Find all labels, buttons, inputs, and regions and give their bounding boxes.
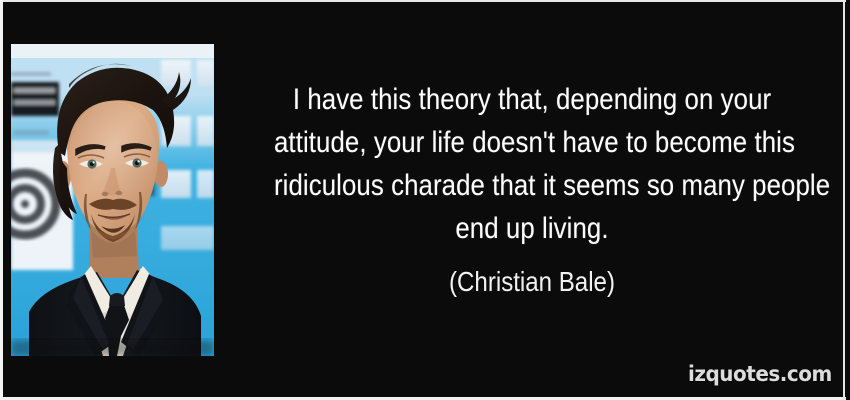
frame-right-outer [846,0,850,400]
frame-top-border [0,0,850,2]
frame-left-border [0,0,3,400]
quote-line-1: I have this theory that, depending on yo… [274,78,790,121]
quote-attribution: (Christian Bale) [274,266,790,298]
quote-text: I have this theory that, depending on yo… [232,78,832,250]
author-photo [11,44,214,356]
quote-line-2: attitude, your life doesn't have to beco… [274,121,790,164]
quote-line-3: ridiculous charade that it seems so many… [274,164,790,207]
frame-right-border [843,0,845,400]
author-photo-illustration [11,44,214,356]
quote-line-4: end up living. [274,207,790,250]
quote-image-canvas: I have this theory that, depending on yo… [0,0,850,400]
site-watermark: izquotes.com [688,362,832,386]
